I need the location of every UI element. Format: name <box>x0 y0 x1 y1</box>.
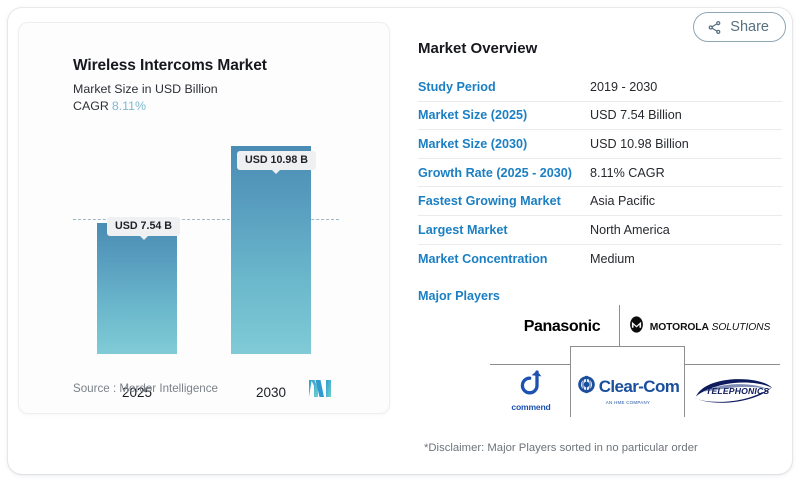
x-axis-tick-2030: 2030 <box>231 385 311 400</box>
motorola-wordmark: MOTOROLA SOLUTIONS <box>650 322 770 333</box>
grid-divider-vertical-bottom-left <box>570 364 571 417</box>
row-label: Largest Market <box>418 223 590 237</box>
row-value: USD 7.54 Billion <box>590 108 682 122</box>
player-logo-panasonic: Panasonic <box>510 311 614 343</box>
disclaimer-text: *Disclaimer: Major Players sorted in no … <box>424 442 698 454</box>
motorola-text: MOTOROLA <box>650 322 709 333</box>
row-label: Study Period <box>418 80 590 94</box>
chart-source: Source : Mordor Intelligence <box>73 382 218 395</box>
bar-2030[interactable] <box>231 146 311 354</box>
row-value: Asia Pacific <box>590 194 655 208</box>
bar-2025[interactable] <box>97 223 177 354</box>
overview-table: Study Period 2019 - 2030 Market Size (20… <box>418 73 782 273</box>
player-logo-telephonics: TELEPHONICS <box>690 367 776 413</box>
chart-card: Wireless Intercoms Market Market Size in… <box>18 22 390 414</box>
commend-wordmark: commend <box>511 402 550 412</box>
solutions-text: SOLUTIONS <box>712 322 771 333</box>
market-snapshot-page: Share Wireless Intercoms Market Market S… <box>0 0 800 482</box>
row-label: Market Size (2030) <box>418 137 590 151</box>
grid-divider-step-left <box>570 346 571 365</box>
row-label: Market Size (2025) <box>418 108 590 122</box>
major-players-logo-grid: Panasonic MOTOROLA SOLUTIONS <box>490 305 780 417</box>
market-overview-panel: Market Overview Study Period 2019 - 2030… <box>418 40 782 303</box>
major-players-heading: Major Players <box>418 289 782 303</box>
grid-divider-horizontal-right <box>685 364 780 365</box>
clear-com-globe-icon <box>577 375 596 399</box>
table-row: Market Size (2025) USD 7.54 Billion <box>418 102 782 131</box>
row-label: Market Concentration <box>418 252 590 266</box>
row-label: Growth Rate (2025 - 2030) <box>418 166 590 180</box>
player-logo-clear-com: Clear-Com AN HME COMPANY <box>576 367 680 413</box>
bar-value-label-2025: USD 7.54 B <box>107 217 180 236</box>
bar-value-label-2030: USD 10.98 B <box>237 151 316 170</box>
row-value: 8.11% CAGR <box>590 166 665 180</box>
bar-chart-plot: USD 7.54 B USD 10.98 B 2025 2030 <box>19 23 391 415</box>
row-value: North America <box>590 223 670 237</box>
grid-divider-vertical-top <box>619 305 620 347</box>
row-value: Medium <box>590 252 635 266</box>
share-button-label: Share <box>730 19 769 35</box>
player-logo-motorola-solutions: MOTOROLA SOLUTIONS <box>624 311 774 343</box>
commend-arrow-icon <box>517 369 545 401</box>
table-row: Market Concentration Medium <box>418 245 782 274</box>
player-logo-commend: commend <box>498 367 564 413</box>
row-value: 2019 - 2030 <box>590 80 657 94</box>
row-label: Fastest Growing Market <box>418 194 590 208</box>
table-row: Market Size (2030) USD 10.98 Billion <box>418 130 782 159</box>
table-row: Study Period 2019 - 2030 <box>418 73 782 102</box>
telephonics-wordmark: TELEPHONICS <box>706 386 769 396</box>
share-button[interactable]: Share <box>693 12 786 42</box>
table-row: Growth Rate (2025 - 2030) 8.11% CAGR <box>418 159 782 188</box>
grid-divider-horizontal-center <box>570 346 685 347</box>
clear-com-wordmark: Clear-Com <box>599 377 680 397</box>
panasonic-wordmark: Panasonic <box>524 318 600 336</box>
grid-divider-vertical-bottom-right <box>684 364 685 417</box>
motorola-bat-wing-icon <box>628 316 645 338</box>
table-row: Largest Market North America <box>418 216 782 245</box>
table-row: Fastest Growing Market Asia Pacific <box>418 187 782 216</box>
mordor-intelligence-logo <box>307 377 337 399</box>
clear-com-tagline: AN HME COMPANY <box>606 400 650 405</box>
grid-divider-step-right <box>684 346 685 365</box>
panel-title: Market Overview <box>418 40 782 57</box>
telephonics-swoosh-icon: TELEPHONICS <box>692 376 774 404</box>
row-value: USD 10.98 Billion <box>590 137 689 151</box>
grid-divider-horizontal-left <box>490 364 570 365</box>
share-network-icon <box>707 20 722 35</box>
